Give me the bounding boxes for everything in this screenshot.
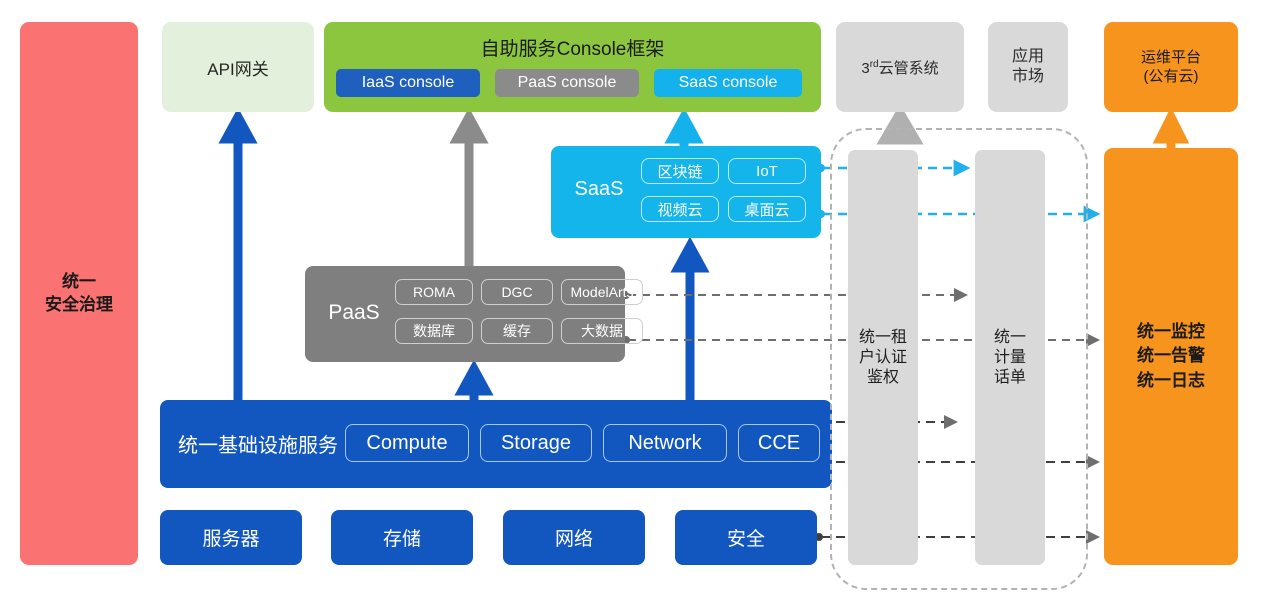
hardware-box-network[interactable]: 网络 [503, 510, 645, 565]
app-market-label: 应用市场 [1012, 47, 1044, 88]
unified-tenant-auth-column[interactable]: 统一租户认证鉴权 [848, 150, 918, 565]
app-market-box[interactable]: 应用市场 [988, 22, 1068, 112]
unified-metering-billing-column[interactable]: 统一计量话单 [975, 150, 1045, 565]
arrow-iaas-to-paas [462, 369, 486, 400]
arrow-iaas-to-api-gateway [226, 117, 250, 400]
ops-platform-header-label: 运维平台(公有云) [1141, 48, 1201, 87]
arrow-saas-to-console [672, 117, 696, 146]
unified-infrastructure-service-label: 统一基础设施服务 [178, 429, 338, 458]
api-gateway-box[interactable]: API网关 [162, 22, 314, 112]
paas-chip-cache[interactable]: 缓存 [481, 318, 553, 344]
paas-chip-database[interactable]: 数据库 [395, 318, 473, 344]
arrow-paas-to-console [457, 117, 481, 266]
unified-security-governance-panel[interactable]: 统一安全治理 [20, 22, 138, 565]
paas-layer-label: PaaS [315, 301, 393, 325]
iaas-chip-network[interactable]: Network [603, 424, 727, 462]
architecture-diagram: 统一安全治理 API网关 自助服务Console框架 IaaS console … [0, 0, 1265, 605]
hardware-box-server[interactable]: 服务器 [160, 510, 302, 565]
api-gateway-label: API网关 [207, 55, 268, 80]
iaas-chip-cce[interactable]: CCE [738, 424, 820, 462]
iaas-chip-compute[interactable]: Compute [345, 424, 469, 462]
paas-layer-box[interactable]: PaaS ROMA DGC ModelArts 数据库 缓存 大数据 [305, 266, 625, 362]
arrow-ops-body-to-header [1160, 117, 1182, 148]
arrow-iaas-to-saas [678, 246, 702, 400]
hardware-box-storage[interactable]: 存储 [331, 510, 473, 565]
iaas-chip-storage[interactable]: Storage [480, 424, 592, 462]
ops-platform-body-label: 统一监控统一告警统一日志 [1137, 320, 1205, 394]
iaas-console-chip[interactable]: IaaS console [336, 69, 480, 97]
saas-layer-box[interactable]: SaaS 区块链 IoT 视频云 桌面云 [551, 146, 821, 238]
console-framework-title: 自助服务Console框架 [324, 34, 821, 61]
saas-chip-iot[interactable]: IoT [728, 158, 806, 184]
hardware-box-security[interactable]: 安全 [675, 510, 817, 565]
ops-platform-header-box[interactable]: 运维平台(公有云) [1104, 22, 1238, 112]
unified-security-governance-label: 统一安全治理 [45, 271, 113, 316]
paas-chip-modelarts[interactable]: ModelArts [561, 279, 643, 305]
paas-console-chip[interactable]: PaaS console [495, 69, 639, 97]
unified-tenant-auth-label: 统一租户认证鉴权 [859, 328, 907, 388]
third-party-cloud-management-label: 3rd云管系统 [861, 57, 938, 78]
ops-platform-body-box[interactable]: 统一监控统一告警统一日志 [1104, 148, 1238, 565]
saas-console-chip[interactable]: SaaS console [654, 69, 802, 97]
third-party-cloud-management-box[interactable]: 3rd云管系统 [836, 22, 964, 112]
saas-chip-video-cloud[interactable]: 视频云 [641, 196, 719, 222]
unified-infrastructure-service-bar[interactable]: 统一基础设施服务 Compute Storage Network CCE [160, 400, 832, 488]
saas-chip-desktop-cloud[interactable]: 桌面云 [728, 196, 806, 222]
paas-chip-dgc[interactable]: DGC [481, 279, 553, 305]
self-service-console-framework[interactable]: 自助服务Console框架 IaaS console PaaS console … [324, 22, 821, 112]
paas-chip-roma[interactable]: ROMA [395, 279, 473, 305]
saas-chip-blockchain[interactable]: 区块链 [641, 158, 719, 184]
unified-metering-billing-label: 统一计量话单 [994, 328, 1026, 388]
paas-chip-bigdata[interactable]: 大数据 [561, 318, 643, 344]
ordinal-superscript: rd [870, 59, 879, 70]
saas-layer-label: SaaS [563, 178, 635, 201]
